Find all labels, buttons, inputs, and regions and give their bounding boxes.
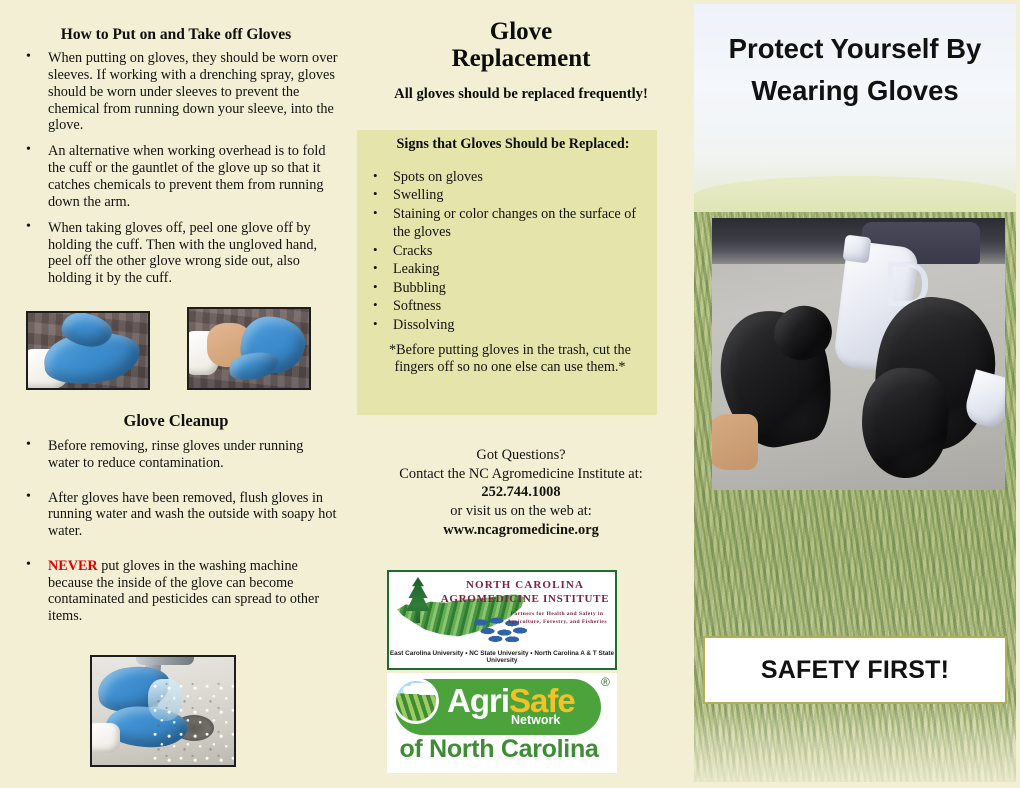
cover-title: Protect Yourself By Wearing Gloves [702, 28, 1008, 112]
list-item: When putting on gloves, they should be w… [18, 50, 338, 134]
title-line-1: Glove [366, 18, 676, 45]
title-line-2: Replacement [366, 45, 676, 72]
signs-list: Spots on gloves Swelling Staining or col… [363, 168, 655, 334]
photo-glove-washing [90, 655, 236, 767]
photo-black-chemical-gloves [712, 218, 1005, 490]
list-item-text: Before removing, rinse gloves under runn… [48, 438, 303, 471]
photo-bottle-neck [843, 235, 872, 264]
put-on-take-off-list: When putting on gloves, they should be w… [18, 50, 338, 296]
glove-cleanup-list: Before removing, rinse gloves under runn… [18, 438, 338, 643]
contact-web-instruction: or visit us on the web at: [360, 502, 682, 521]
contact-instruction: Contact the NC Agromedicine Institute at… [360, 465, 682, 484]
signs-callout-box: Signs that Gloves Should be Replaced: Sp… [357, 130, 657, 415]
list-item: Dissolving [363, 316, 655, 334]
list-item: After gloves have been removed, flush gl… [18, 490, 338, 540]
registered-trademark-icon: ® [601, 675, 610, 689]
wheat-field-background-photo: Protect Yourself By Wearing Gloves SAFET… [694, 4, 1016, 782]
logo-name-line-2: AGROMEDICINE INSTITUTE [435, 593, 615, 605]
contact-website-link[interactable]: www.ncagromedicine.org [360, 521, 682, 540]
list-item: Leaking [363, 260, 655, 278]
panel-left: How to Put on and Take off Gloves When p… [0, 0, 352, 788]
contact-question: Got Questions? [360, 446, 682, 465]
list-item: Softness [363, 297, 655, 315]
agrisafe-network-logo: AgriSafe Network ® of North Carolina [387, 673, 617, 773]
cloud-icon [403, 686, 427, 694]
safety-first-banner: SAFETY FIRST! [703, 636, 1007, 704]
logo-tagline: Partners for Health and Safety in Agricu… [501, 610, 613, 626]
logo-partner-universities: East Carolina University • NC State Univ… [389, 650, 615, 664]
photo-forearm [712, 414, 758, 470]
field-fade-overlay [694, 702, 1016, 782]
middle-panel-title: Glove Replacement [366, 18, 676, 72]
list-item: An alternative when working overhead is … [18, 143, 338, 210]
wordmark-agri: Agri [447, 682, 509, 719]
left-heading-glove-cleanup: Glove Cleanup [14, 411, 338, 431]
signs-box-heading: Signs that Gloves Should be Replaced: [377, 136, 649, 153]
signs-box-note: *Before putting gloves in the trash, cut… [371, 342, 649, 377]
nc-agromedicine-institute-logo: NORTH CAROLINA AGROMEDICINE INSTITUTE Pa… [387, 570, 617, 670]
brochure-page: How to Put on and Take off Gloves When p… [0, 0, 1020, 788]
photo-water-droplets [152, 681, 234, 765]
list-item: Staining or color changes on the surface… [363, 205, 655, 242]
alert-keyword: NEVER [48, 558, 98, 574]
photo-faucet-spout [136, 655, 194, 665]
photo-glove-peel-left [26, 311, 150, 390]
safety-first-text: SAFETY FIRST! [761, 656, 949, 685]
middle-panel-subtitle: All gloves should be replaced frequently… [360, 86, 682, 103]
contact-block: Got Questions? Contact the NC Agromedici… [360, 446, 682, 540]
list-item-text: After gloves have been removed, flush gl… [48, 490, 336, 540]
farm-field-circle-icon [393, 678, 439, 724]
left-heading-put-on-take-off: How to Put on and Take off Gloves [14, 26, 338, 44]
list-item: Bubbling [363, 279, 655, 297]
logo-state-line: of North Carolina [387, 735, 611, 764]
contact-phone[interactable]: 252.744.1008 [360, 483, 682, 502]
list-item: Spots on gloves [363, 168, 655, 186]
logo-name-line-1: NORTH CAROLINA [435, 579, 615, 591]
list-item: Before removing, rinse gloves under runn… [18, 438, 338, 472]
list-item: Cracks [363, 242, 655, 260]
list-item-never: NEVER put gloves in the washing machine … [18, 558, 338, 625]
list-item: When taking gloves off, peel one glove o… [18, 220, 338, 287]
list-item: Swelling [363, 186, 655, 204]
wordmark-network: Network [511, 713, 560, 727]
panel-right: Protect Yourself By Wearing Gloves SAFET… [690, 0, 1020, 788]
photo-glove-peel-right [187, 307, 311, 390]
photo-sleeve [90, 723, 120, 753]
